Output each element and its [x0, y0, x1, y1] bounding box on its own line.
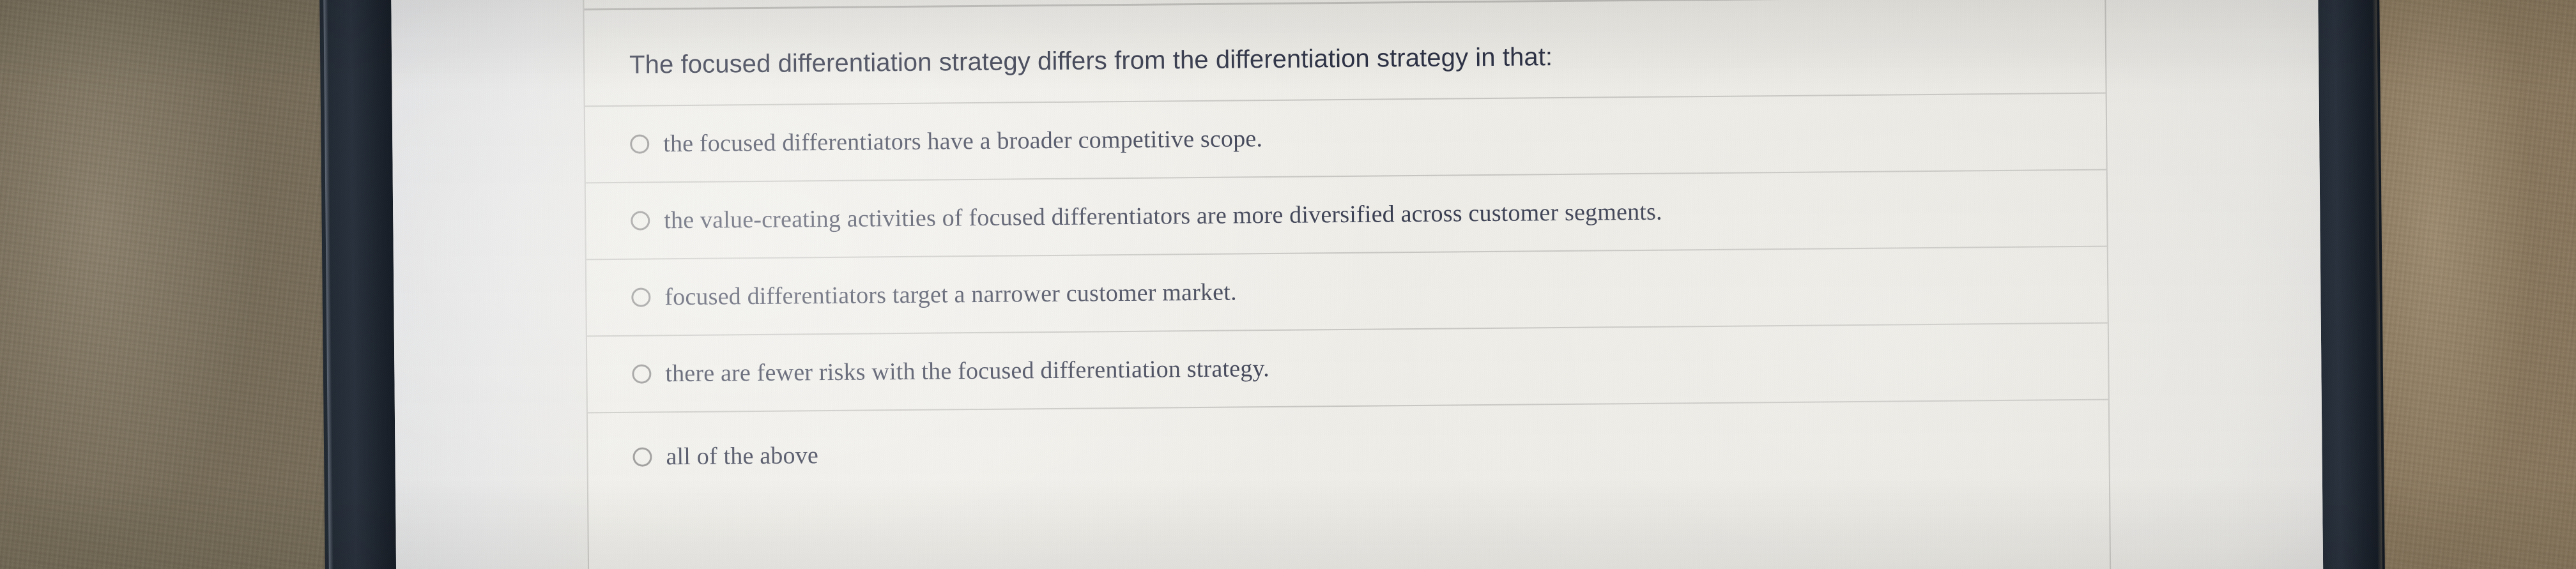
answer-option-label: focused differentiators target a narrowe…: [664, 278, 1237, 311]
card-top-divider: [584, 0, 2104, 10]
monitor-screen: The focused differentiation strategy dif…: [391, 0, 2323, 569]
answer-option-e[interactable]: all of the above: [588, 399, 2109, 502]
wall-background-left: [0, 0, 330, 569]
answer-option-label: all of the above: [666, 441, 818, 471]
answer-option-d[interactable]: there are fewer risks with the focused d…: [587, 322, 2108, 413]
radio-unselected-icon[interactable]: [632, 364, 651, 383]
radio-unselected-icon[interactable]: [630, 134, 649, 153]
question-stem: The focused differentiation strategy dif…: [629, 37, 2035, 81]
radio-unselected-icon[interactable]: [631, 287, 650, 307]
answer-option-label: the focused differentiators have a broad…: [663, 125, 1262, 158]
question-card: The focused differentiation strategy dif…: [583, 0, 2111, 569]
answer-option-label: the value-creating activities of focused…: [664, 198, 1662, 235]
wall-background-right: [2374, 0, 2576, 569]
page-margin-left: [391, 0, 588, 569]
screenshot-root: The focused differentiation strategy dif…: [0, 0, 2576, 569]
radio-unselected-icon[interactable]: [632, 447, 652, 466]
bezel-edge-highlight-left: [323, 0, 333, 569]
answer-option-a[interactable]: the focused differentiators have a broad…: [585, 93, 2106, 183]
radio-unselected-icon[interactable]: [631, 211, 650, 230]
page-margin-right: [2106, 0, 2323, 569]
answer-option-c[interactable]: focused differentiators target a narrowe…: [586, 246, 2108, 336]
answer-option-label: there are fewer risks with the focused d…: [665, 354, 1269, 388]
answer-options-list: the focused differentiators have a broad…: [585, 93, 2109, 502]
answer-option-b[interactable]: the value-creating activities of focused…: [586, 169, 2107, 259]
